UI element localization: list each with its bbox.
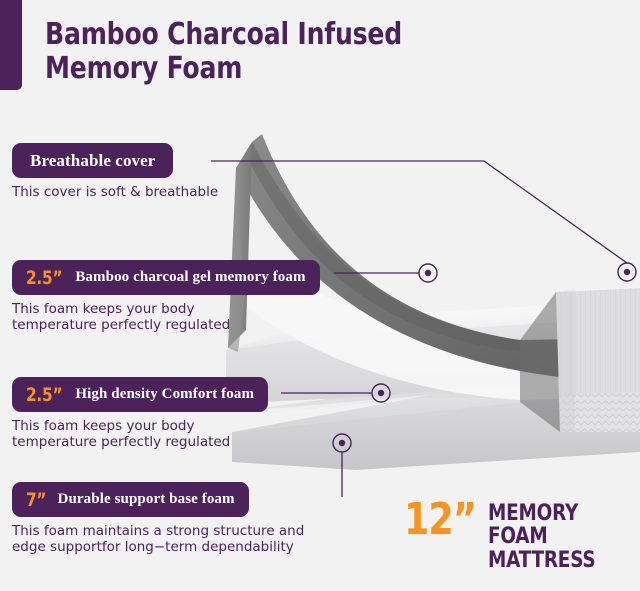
brand-size: 12”	[404, 500, 476, 540]
header-accent-bar	[0, 0, 22, 90]
brand-words: MEMORY FOAM MATTRESS	[488, 500, 629, 572]
callout-desc-high-density-comfort-foam: This foam keeps your body temperature pe…	[12, 419, 268, 451]
callout-chip-durable-support-base-foam[interactable]: 7” Durable support base foam	[12, 482, 249, 517]
callout-breathable-cover[interactable]: Breathable cover This cover is soft & br…	[12, 143, 218, 201]
callout-chip-bamboo-charcoal-gel-memory-foam[interactable]: 2.5” Bamboo charcoal gel memory foam	[12, 260, 320, 295]
callout-thickness-durable-support-base-foam: 7”	[26, 489, 46, 511]
callout-high-density-comfort-foam[interactable]: 2.5” High density Comfort foam This foam…	[12, 377, 268, 451]
callout-label-high-density-comfort-foam: High density Comfort foam	[75, 386, 254, 403]
callout-chip-breathable-cover[interactable]: Breathable cover	[12, 143, 173, 178]
callout-label-breathable-cover: Breathable cover	[26, 151, 159, 171]
callout-desc-breathable-cover: This cover is soft & breathable	[12, 185, 218, 201]
callout-label-durable-support-base-foam: Durable support base foam	[58, 491, 235, 508]
callout-desc-bamboo-charcoal-gel-memory-foam: This foam keeps your body temperature pe…	[12, 302, 320, 334]
callout-bamboo-charcoal-gel-memory-foam[interactable]: 2.5” Bamboo charcoal gel memory foam Thi…	[12, 260, 320, 334]
brand-block: 12” MEMORY FOAM MATTRESS	[404, 500, 640, 572]
page-title: Bamboo Charcoal Infused Memory Foam	[45, 18, 529, 86]
callout-durable-support-base-foam[interactable]: 7” Durable support base foam This foam m…	[12, 482, 304, 556]
callout-thickness-high-density-comfort-foam: 2.5”	[26, 384, 62, 406]
callout-label-bamboo-charcoal-gel-memory-foam: Bamboo charcoal gel memory foam	[75, 269, 305, 286]
infographic-root: Bamboo Charcoal Infused Memory Foam Brea…	[0, 0, 640, 591]
callout-thickness-bamboo-charcoal-gel-memory-foam: 2.5”	[26, 267, 62, 289]
callout-chip-high-density-comfort-foam[interactable]: 2.5” High density Comfort foam	[12, 377, 268, 412]
callout-desc-durable-support-base-foam: This foam maintains a strong structure a…	[12, 524, 304, 556]
